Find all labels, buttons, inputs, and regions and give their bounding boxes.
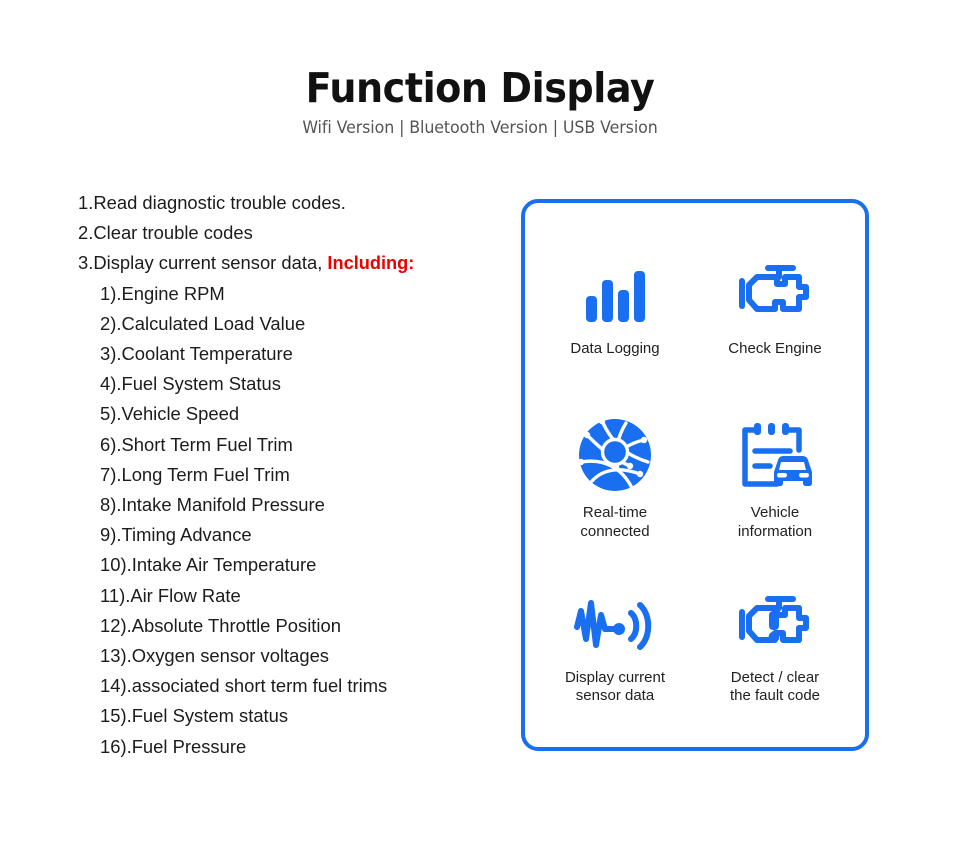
check-engine-icon	[736, 260, 814, 322]
icon-cell-realtime-connected[interactable]: Real-time connected	[535, 394, 695, 563]
list-marker: 9).	[100, 524, 121, 545]
list-text: Fuel System status	[132, 705, 288, 726]
list-text: Intake Manifold Pressure	[121, 494, 324, 515]
icon-cell-detect-clear-fault[interactable]: Detect / clear the fault code	[695, 564, 855, 733]
list-text: Absolute Throttle Position	[132, 615, 341, 636]
list-text: Short Term Fuel Trim	[121, 434, 292, 455]
list-marker: 14).	[100, 675, 132, 696]
list-text: associated short term fuel trims	[132, 675, 388, 696]
list-marker: 3.	[78, 252, 93, 273]
list-text: Engine RPM	[121, 283, 224, 304]
list-marker: 7).	[100, 464, 121, 485]
list-text: Display current sensor data,	[93, 252, 327, 273]
list-item: 9).Timing Advance	[78, 520, 498, 550]
including-emphasis: Including:	[327, 253, 414, 273]
page-subtitle: Wifi Version | Bluetooth Version | USB V…	[19, 118, 941, 137]
list-text: Air Flow Rate	[130, 585, 240, 606]
list-item: 14).associated short term fuel trims	[78, 671, 498, 701]
list-marker: 16).	[100, 736, 132, 757]
bar-chart-icon	[584, 260, 646, 322]
list-item: 12).Absolute Throttle Position	[78, 611, 498, 641]
list-marker: 15).	[100, 705, 132, 726]
list-item: 16).Fuel Pressure	[78, 732, 498, 762]
list-text: Coolant Temperature	[121, 343, 292, 364]
list-item: 15).Fuel System status	[78, 701, 498, 731]
function-icon-card: Data Logging Check Engine	[521, 199, 869, 751]
list-marker: 2).	[100, 313, 121, 334]
list-item: 1.Read diagnostic trouble codes.	[78, 188, 498, 218]
icon-caption: Real-time connected	[580, 504, 649, 541]
list-item: 11).Air Flow Rate	[78, 581, 498, 611]
list-item: 5).Vehicle Speed	[78, 399, 498, 429]
icon-cell-data-logging[interactable]: Data Logging	[535, 225, 695, 394]
feature-list: 1.Read diagnostic trouble codes. 2.Clear…	[78, 188, 498, 762]
list-marker: 6).	[100, 434, 121, 455]
icon-caption: Vehicle information	[738, 504, 812, 541]
list-item: 4).Fuel System Status	[78, 369, 498, 399]
icon-cell-display-sensor-data[interactable]: Display current sensor data	[535, 564, 695, 733]
list-item: 3).Coolant Temperature	[78, 339, 498, 369]
list-text: Fuel System Status	[121, 373, 280, 394]
list-item: 3.Display current sensor data, Including…	[78, 248, 498, 278]
list-marker: 13).	[100, 645, 132, 666]
list-text: Long Term Fuel Trim	[121, 464, 289, 485]
list-item: 7).Long Term Fuel Trim	[78, 460, 498, 490]
page-title: Function Display	[34, 66, 927, 111]
list-marker: 10).	[100, 554, 132, 575]
list-item: 6).Short Term Fuel Trim	[78, 430, 498, 460]
network-globe-icon	[578, 416, 652, 492]
list-item: 1).Engine RPM	[78, 279, 498, 309]
list-text: Clear trouble codes	[93, 222, 252, 243]
list-marker: 3).	[100, 343, 121, 364]
icon-grid: Data Logging Check Engine	[525, 203, 865, 747]
icon-caption: Check Engine	[728, 340, 821, 359]
icon-caption: Display current sensor data	[565, 669, 665, 706]
list-marker: 2.	[78, 222, 93, 243]
page-header: Function Display Wifi Version | Bluetoot…	[0, 66, 960, 137]
list-item: 2.Clear trouble codes	[78, 218, 498, 248]
clipboard-car-icon	[737, 416, 813, 492]
list-item: 2).Calculated Load Value	[78, 309, 498, 339]
list-marker: 1).	[100, 283, 121, 304]
list-item: 8).Intake Manifold Pressure	[78, 490, 498, 520]
list-text: Calculated Load Value	[121, 313, 305, 334]
list-marker: 4).	[100, 373, 121, 394]
list-text: Timing Advance	[121, 524, 251, 545]
icon-caption: Detect / clear the fault code	[730, 669, 820, 706]
waveform-signal-icon	[574, 591, 656, 653]
list-text: Vehicle Speed	[121, 403, 239, 424]
list-text: Oxygen sensor voltages	[132, 645, 329, 666]
engine-warning-icon	[736, 591, 814, 653]
list-text: Read diagnostic trouble codes.	[93, 192, 346, 213]
list-text: Fuel Pressure	[132, 736, 246, 757]
list-item: 10).Intake Air Temperature	[78, 550, 498, 580]
icon-cell-vehicle-information[interactable]: Vehicle information	[695, 394, 855, 563]
list-text: Intake Air Temperature	[132, 554, 317, 575]
list-marker: 12).	[100, 615, 132, 636]
list-marker: 11).	[100, 585, 130, 606]
list-item: 13).Oxygen sensor voltages	[78, 641, 498, 671]
icon-cell-check-engine[interactable]: Check Engine	[695, 225, 855, 394]
list-marker: 1.	[78, 192, 93, 213]
list-marker: 5).	[100, 403, 121, 424]
list-marker: 8).	[100, 494, 121, 515]
icon-caption: Data Logging	[570, 340, 659, 359]
